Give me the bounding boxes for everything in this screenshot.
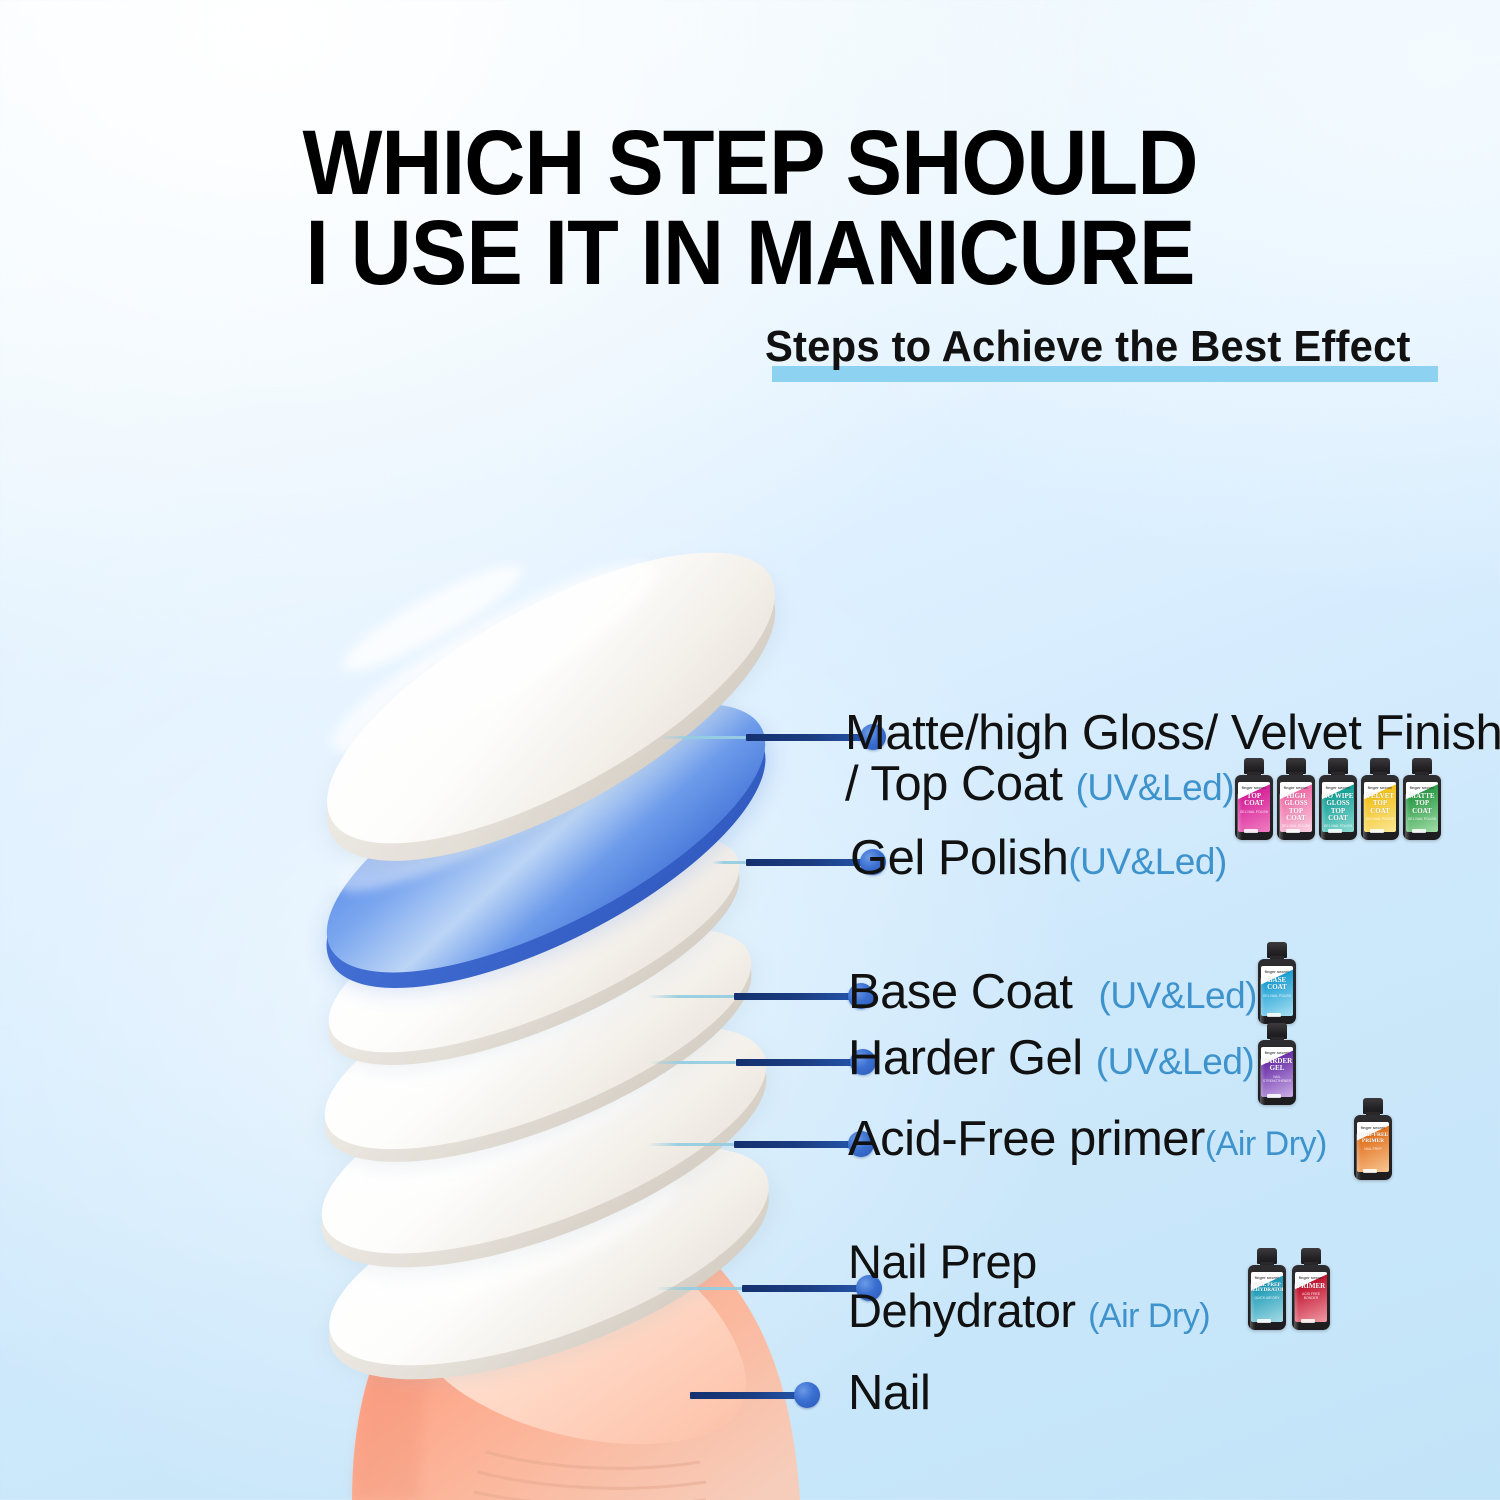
bottle-body: finger secret PRIMER ACID FREE BONDER [1292, 1265, 1330, 1330]
connector-harder-gel [650, 1052, 876, 1072]
label-top-coat-cure: (UV&Led) [1076, 767, 1234, 808]
bottle-pill [1244, 829, 1258, 833]
bottle-subtitle: GEL NAIL POLISH [1282, 824, 1310, 828]
bottle-gloss [1250, 1283, 1255, 1330]
bottle-label: finger secret ACID-FREE PRIMER NAIL PREP [1357, 1122, 1389, 1172]
bottle-pill [1267, 1013, 1281, 1017]
bottle-body: finger secret BASE COAT GEL NAIL POLISH [1258, 959, 1296, 1024]
connector-dot [794, 1382, 820, 1408]
label-base-coat-cure: (UV&Led) [1099, 975, 1257, 1016]
bottle-gloss [1356, 1133, 1361, 1180]
page-title: WHICH STEP SHOULD I USE IT IN MANICURE [60, 0, 1440, 298]
bottle-matte-top-coat: finger secret MATTE TOP COAT GEL NAIL PO… [1403, 758, 1441, 840]
bottle-gloss [1321, 793, 1326, 840]
bottle-subtitle: ACID FREE BONDER [1295, 1292, 1327, 1300]
bottle-pill [1412, 829, 1426, 833]
bottle-brand: finger secret [1326, 785, 1350, 790]
connector-hairline [648, 995, 734, 998]
header: WHICH STEP SHOULD I USE IT IN MANICURE S… [0, 0, 1500, 386]
bottle-label: finger secret BASE COAT GEL NAIL POLISH [1261, 966, 1293, 1016]
bottle-subtitle: NAIL STRENGTHENER [1261, 1075, 1293, 1083]
label-acid-free-primer-line1: Acid-Free primer(Air Dry) [848, 1114, 1327, 1165]
layer-disc-harder-gel [294, 884, 786, 1213]
bottle-brand: finger secret [1255, 1275, 1279, 1280]
bottle-gloss [1363, 793, 1368, 840]
bottle-name: ACID-FREE PRIMER [1357, 1133, 1389, 1145]
bottle-primer: finger secret PRIMER ACID FREE BONDER [1292, 1248, 1330, 1330]
label-harder-gel: Harder Gel (UV&Led) [848, 1033, 1254, 1084]
bottle-no-wipe-gloss-top-coat: finger secret NO WIPE GLOSS TOP COAT GEL… [1319, 758, 1357, 840]
label-gel-polish-cure: (UV&Led) [1068, 841, 1226, 882]
bottle-body: finger secret ACID-FREE PRIMER NAIL PREP [1354, 1115, 1392, 1180]
bottle-subtitle: GEL NAIL POLISH [1263, 994, 1291, 998]
bottle-name: BASE COAT [1261, 977, 1293, 992]
label-nail: Nail [848, 1368, 930, 1419]
bottle-gloss [1260, 977, 1265, 1024]
bottle-brand: finger secret [1242, 785, 1266, 790]
label-nail-line1: Nail [848, 1368, 930, 1419]
label-gel-polish: Gel Polish(UV&Led) [850, 833, 1227, 884]
bottle-name: PRIMER [1297, 1283, 1325, 1290]
bottle-gloss [1405, 793, 1410, 840]
bottle-brand: finger secret [1284, 785, 1308, 790]
title-line-1: WHICH STEP SHOULD [302, 112, 1197, 214]
connector-hairline [712, 861, 746, 864]
connector-hairline [656, 1287, 742, 1290]
bottle-name: TOP COAT [1238, 793, 1270, 808]
connector-bar [746, 859, 864, 866]
label-top-coat-line1: Matte/high Gloss/ Velvet Finish [845, 708, 1500, 759]
connector-hairline [650, 1061, 736, 1064]
connector-bar [734, 1141, 852, 1148]
bottle-label: finger secret VELVET TOP COAT GEL NAIL P… [1364, 782, 1396, 832]
bottle-brand: finger secret [1265, 1050, 1289, 1055]
bottle-brand: finger secret [1361, 1125, 1385, 1130]
bottle-gloss [1260, 1058, 1265, 1105]
bottle-pill [1257, 1319, 1271, 1323]
fingertip-illustration [352, 1197, 800, 1500]
label-harder-gel-line1: Harder Gel (UV&Led) [848, 1033, 1254, 1084]
bottle-pill [1267, 1094, 1281, 1098]
bottle-label: finger secret PRIMER ACID FREE BONDER [1295, 1272, 1327, 1322]
bottle-body: finger secret HIGH GLOSS TOP COAT GEL NA… [1277, 775, 1315, 840]
label-nail-prep: Nail Prep Dehydrator (Air Dry) [848, 1238, 1210, 1336]
bottle-group-base-coat: finger secret BASE COAT GEL NAIL POLISH [1258, 942, 1296, 1024]
bottle-subtitle: QUICK AIR DRY [1254, 1296, 1279, 1300]
connector-bar [742, 1285, 860, 1292]
label-base-coat: Base Coat (UV&Led) [848, 967, 1257, 1018]
bottle-body: finger secret NAIL PREP DEHYDRATOR QUICK… [1248, 1265, 1286, 1330]
subtitle: Steps to Achieve the Best Effect [765, 322, 1411, 372]
bottle-acid-free-primer: finger secret ACID-FREE PRIMER NAIL PREP [1354, 1098, 1392, 1180]
label-nail-prep-cure: (Air Dry) [1088, 1297, 1210, 1335]
bottle-pill [1301, 1319, 1315, 1323]
label-harder-gel-cure: (UV&Led) [1096, 1041, 1254, 1082]
bottle-nail-prep-dehydrator: finger secret NAIL PREP DEHYDRATOR QUICK… [1248, 1248, 1286, 1330]
label-gel-polish-line1: Gel Polish(UV&Led) [850, 833, 1227, 884]
bottle-subtitle: GEL NAIL POLISH [1366, 817, 1394, 821]
bottle-name: NO WIPE GLOSS TOP COAT [1322, 793, 1354, 822]
bottle-brand: finger secret [1299, 1275, 1323, 1280]
bottle-brand: finger secret [1265, 969, 1289, 974]
bottle-base-coat: finger secret BASE COAT GEL NAIL POLISH [1258, 942, 1296, 1024]
bottle-harder-gel: finger secret HARDER GEL NAIL STRENGTHEN… [1258, 1023, 1296, 1105]
bottle-subtitle: GEL NAIL POLISH [1324, 824, 1352, 828]
connector-hairline [648, 1143, 734, 1146]
label-acid-free-primer-cure: (Air Dry) [1205, 1125, 1327, 1163]
bottle-group-nail-prep: finger secret NAIL PREP DEHYDRATOR QUICK… [1248, 1248, 1330, 1330]
connector-bar [736, 1059, 854, 1066]
bottle-label: finger secret TOP COAT GEL NAIL POLISH [1238, 782, 1270, 832]
bottle-brand: finger secret [1368, 785, 1392, 790]
bottle-name: NAIL PREP DEHYDRATOR [1251, 1283, 1283, 1294]
title-line-2: I USE IT IN MANICURE [60, 208, 1440, 298]
bottle-subtitle: GEL NAIL POLISH [1408, 817, 1436, 821]
label-acid-free-primer: Acid-Free primer(Air Dry) [848, 1114, 1327, 1165]
connector-nail [690, 1385, 820, 1405]
bottle-brand: finger secret [1410, 785, 1434, 790]
connector-base-coat [648, 986, 874, 1006]
connector-acid-free-primer [648, 1134, 874, 1154]
bottle-pill [1286, 829, 1300, 833]
bottle-label: finger secret HARDER GEL NAIL STRENGTHEN… [1261, 1047, 1293, 1097]
bottle-top-coat: finger secret TOP COAT GEL NAIL POLISH [1235, 758, 1273, 840]
bottle-gloss [1237, 793, 1242, 840]
label-nail-prep-line1: Nail Prep [848, 1238, 1210, 1287]
bottle-body: finger secret MATTE TOP COAT GEL NAIL PO… [1403, 775, 1441, 840]
label-base-coat-line1: Base Coat (UV&Led) [848, 967, 1257, 1018]
bottle-label: finger secret HIGH GLOSS TOP COAT GEL NA… [1280, 782, 1312, 832]
bottle-label: finger secret NO WIPE GLOSS TOP COAT GEL… [1322, 782, 1354, 832]
connector-bar [690, 1392, 798, 1399]
subtitle-container: Steps to Achieve the Best Effect [0, 322, 1500, 386]
bottle-group-harder-gel: finger secret HARDER GEL NAIL STRENGTHEN… [1258, 1023, 1296, 1105]
bottle-body: finger secret TOP COAT GEL NAIL POLISH [1235, 775, 1273, 840]
bottle-body: finger secret NO WIPE GLOSS TOP COAT GEL… [1319, 775, 1357, 840]
bottle-body: finger secret VELVET TOP COAT GEL NAIL P… [1361, 775, 1399, 840]
bottle-gloss [1294, 1283, 1299, 1330]
bottle-pill [1328, 829, 1342, 833]
bottle-pill [1363, 1169, 1377, 1173]
label-nail-prep-line2: Dehydrator (Air Dry) [848, 1287, 1210, 1336]
bottle-group-acid-free-primer: finger secret ACID-FREE PRIMER NAIL PREP [1354, 1098, 1392, 1180]
bottle-gloss [1279, 793, 1284, 840]
bottle-subtitle: GEL NAIL POLISH [1240, 810, 1268, 814]
connector-bar [734, 993, 852, 1000]
bottle-subtitle: NAIL PREP [1364, 1147, 1382, 1151]
bottle-body: finger secret HARDER GEL NAIL STRENGTHEN… [1258, 1040, 1296, 1105]
bottle-name: VELVET TOP COAT [1364, 793, 1396, 815]
connector-hairline [660, 736, 746, 739]
bottle-name: MATTE TOP COAT [1406, 793, 1438, 815]
bottle-label: finger secret NAIL PREP DEHYDRATOR QUICK… [1251, 1272, 1283, 1322]
bottle-label: finger secret MATTE TOP COAT GEL NAIL PO… [1406, 782, 1438, 832]
bottle-high-gloss-top-coat: finger secret HIGH GLOSS TOP COAT GEL NA… [1277, 758, 1315, 840]
bottle-name: HARDER GEL [1261, 1058, 1293, 1073]
bottle-group-top-coat: finger secret TOP COAT GEL NAIL POLISH f… [1235, 758, 1441, 840]
bottle-name: HIGH GLOSS TOP COAT [1280, 793, 1312, 822]
bottle-pill [1370, 829, 1384, 833]
bottle-velvet-top-coat: finger secret VELVET TOP COAT GEL NAIL P… [1361, 758, 1399, 840]
